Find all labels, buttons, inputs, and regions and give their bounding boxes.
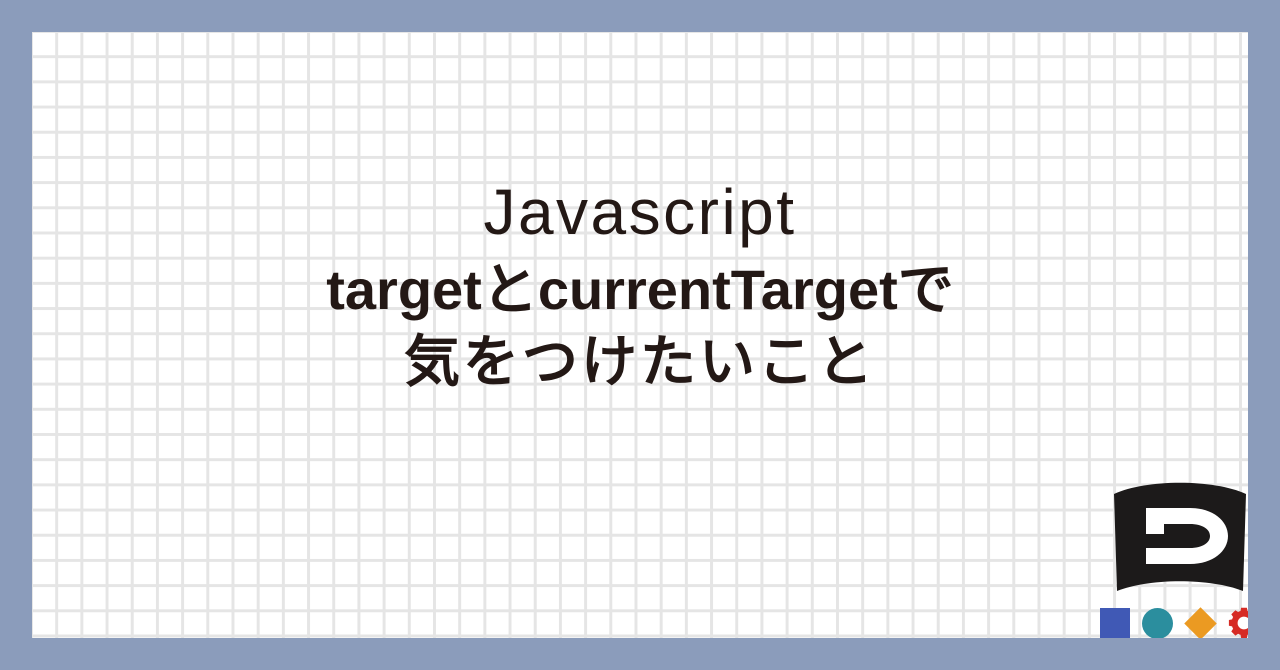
banner-mark-icon	[1112, 478, 1248, 594]
gear-icon	[1228, 607, 1248, 638]
square-shape	[1100, 608, 1130, 639]
logo-shape-row	[1100, 606, 1248, 638]
page-root: Javascript targetとcurrentTargetで 気をつけたいこ…	[0, 0, 1280, 670]
brand-logo	[1082, 474, 1248, 638]
circle-shape	[1142, 608, 1173, 639]
page-title: Javascript targetとcurrentTargetで 気をつけたいこ…	[32, 32, 1248, 397]
title-line-3: 気をつけたいこと	[32, 326, 1248, 398]
title-line-2: targetとcurrentTargetで	[32, 254, 1248, 326]
title-line-1: Javascript	[32, 172, 1248, 254]
diamond-shape	[1184, 607, 1217, 638]
content-card: Javascript targetとcurrentTargetで 気をつけたいこ…	[32, 32, 1248, 638]
